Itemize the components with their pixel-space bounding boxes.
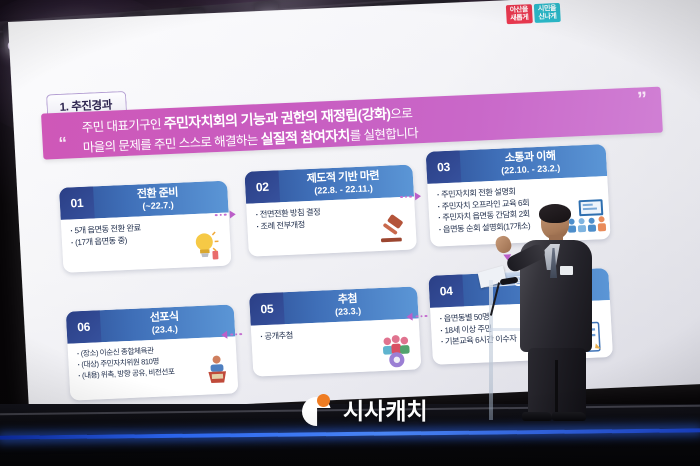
step-number: 04	[428, 274, 464, 307]
headline-line2-lead: 마을의 문제를 주민 스스로 해결하는	[83, 133, 261, 155]
step-card-body: 5개 읍면동 전환 완료 (17개 읍면동 중)	[61, 213, 232, 273]
brand-logo-red: 아산을새롭게	[506, 4, 533, 24]
logo-orange-dot	[317, 394, 330, 407]
step-card-01: 01 전환 준비 (~22.7.) 5개 읍면동 전환 완료 (17개 읍면동 …	[59, 181, 231, 273]
step-card-02: 02 제도적 기반 마련 (22.8. - 22.11.) 전면전환 방침 결정…	[244, 164, 416, 256]
step-heading: 추첨 (23.3.)	[283, 292, 418, 319]
flow-arrow-left	[406, 312, 427, 321]
lightbulb-icon	[187, 229, 227, 265]
step-heading: 제도적 기반 마련 (22.8. - 22.11.)	[279, 170, 414, 197]
headline-line1-tail: 으로	[390, 106, 413, 121]
speaker-trousers	[528, 348, 586, 418]
speaker-hair	[539, 204, 571, 223]
headline-line2-bold: 실질적 참여자치	[260, 127, 350, 147]
flow-arrow-right	[400, 192, 421, 201]
step-number: 03	[426, 150, 462, 183]
photo-scene: 아산을새롭게 시민을신나게 1. 추진경과 “ ” 주민 대표기구인 주민자치회…	[0, 0, 700, 466]
step-heading: 전환 준비 (~22.7.)	[93, 186, 228, 213]
podium-speaker-icon	[200, 354, 234, 385]
step-number: 02	[244, 170, 280, 203]
quote-open-icon: “	[58, 135, 67, 152]
speaker-person	[508, 206, 604, 418]
speaker-shoe	[522, 412, 552, 421]
flow-arrow-right	[215, 210, 236, 219]
step-card-body: 전면전환 방침 결정 조례 전부개정	[246, 196, 417, 256]
quote-close-icon: ”	[637, 89, 648, 109]
flow-arrow-left	[221, 330, 242, 339]
gavel-icon	[372, 213, 412, 249]
watermark-text: 시사캐치	[343, 392, 428, 426]
sisacatch-logo-icon	[302, 392, 336, 426]
city-brand-logo: 아산을새롭게 시민을신나게	[506, 3, 561, 24]
step-heading: 선포식 (23.4.)	[100, 310, 235, 337]
logo-dot	[304, 405, 313, 414]
step-number: 01	[59, 186, 95, 219]
speaker-name-badge	[560, 266, 573, 275]
step-card-body: (장소) 이순신 종합체육관 (대상) 주민자치위원 810명 (내용) 위촉,…	[67, 336, 238, 400]
people-gear-icon	[376, 333, 416, 369]
headline-line1-lead: 주민 대표기구인	[81, 117, 164, 135]
step-card-06: 06 선포식 (23.4.) (장소) 이순신 종합체육관 (대상) 주민자치위…	[66, 304, 239, 400]
headline-line2-tail: 를 실현합니다	[349, 126, 418, 143]
step-heading: 소통과 이해 (22.10. - 23.2.)	[460, 149, 607, 177]
step-card-body: 공개추첨	[251, 318, 422, 376]
step-number: 05	[249, 292, 285, 325]
press-watermark: 시사캐치	[302, 392, 428, 426]
step-card-05: 05 추첨 (23.3.) 공개추첨	[249, 286, 421, 376]
step-number: 06	[66, 310, 102, 343]
brand-logo-teal: 시민을신나게	[534, 3, 561, 23]
speaker-shoe	[552, 412, 586, 421]
